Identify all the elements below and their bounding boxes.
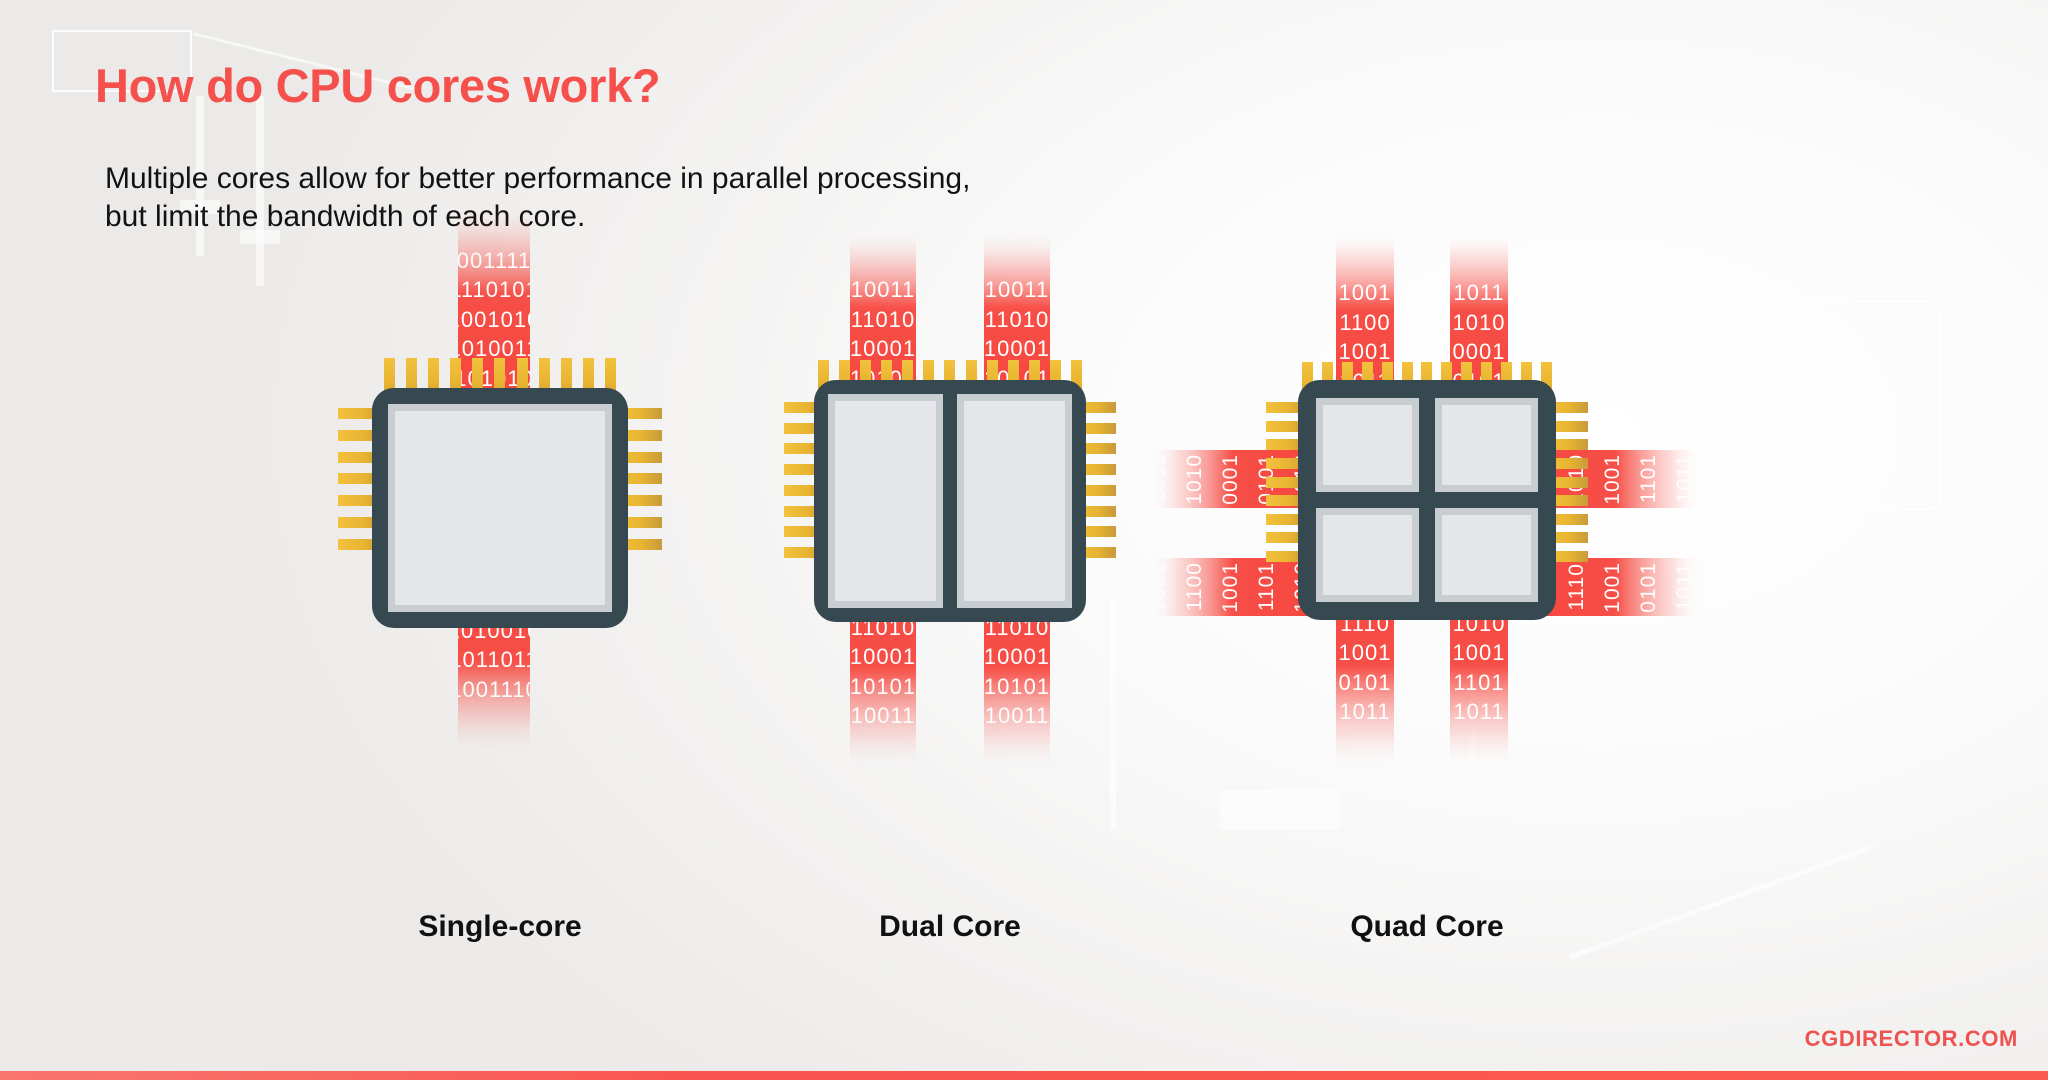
caption-single-core: Single-core bbox=[340, 910, 660, 944]
cpu-chip-dual-core[interactable] bbox=[814, 380, 1086, 622]
stream-bit-row: 1011011 bbox=[449, 645, 538, 674]
stream-bit-row: 1011 bbox=[1147, 454, 1171, 503]
cpu-core-1 bbox=[835, 401, 936, 601]
stream-bit-row: 0001 bbox=[1219, 454, 1243, 505]
stream-bit-row: 1110101 bbox=[449, 275, 538, 304]
stream-bit-row: 1001010 bbox=[448, 305, 541, 334]
data-stream-quad-left-2: 1001 1100 1001 1101 1010 bbox=[1150, 558, 1318, 616]
cpu-chip-single-core[interactable] bbox=[372, 388, 628, 628]
stream-bit-row: 0101 bbox=[1637, 562, 1661, 613]
stream-bit-row: 1101 bbox=[1453, 668, 1504, 697]
stream-bit-row: 1011 bbox=[1673, 562, 1697, 611]
cpu-core-grid bbox=[1316, 398, 1538, 602]
stream-bit-row: 10011110 bbox=[444, 246, 545, 275]
stream-bit-row: 11010 bbox=[851, 305, 916, 334]
cpu-die-outer bbox=[1435, 398, 1538, 492]
stream-bit-row: 1011 bbox=[1453, 278, 1504, 307]
stream-bit-row: 1100 bbox=[1183, 562, 1207, 611]
cpu-die-outer bbox=[828, 394, 943, 608]
stream-bit-row: 1001 bbox=[1339, 638, 1392, 667]
stream-bit-row: 10101 bbox=[984, 672, 1050, 701]
stream-bit-row: 1110 bbox=[1565, 563, 1589, 611]
stream-bit-row: 11010 bbox=[985, 305, 1050, 334]
cpu-core-2 bbox=[1442, 405, 1531, 485]
cpu-core-4 bbox=[1442, 515, 1531, 595]
cpu-core-1 bbox=[395, 411, 605, 605]
cpu-core-1 bbox=[1323, 405, 1412, 485]
page-title: How do CPU cores work? bbox=[95, 58, 660, 113]
stream-bit-row: 1001 bbox=[1147, 562, 1171, 613]
stream-bit-row: 1010 bbox=[1453, 308, 1506, 337]
stream-bit-row: 10011 bbox=[851, 701, 916, 730]
stream-bit-row: 1011 bbox=[1673, 454, 1697, 503]
stream-bit-row: 1011 bbox=[1453, 697, 1504, 726]
stream-bit-row: 10101 bbox=[850, 672, 916, 701]
cpu-core-3 bbox=[1323, 515, 1412, 595]
stream-bit-row: 1001 bbox=[1601, 562, 1625, 613]
stream-bit-row: 0101 bbox=[1339, 668, 1392, 697]
stream-bit-row: 1001 bbox=[1219, 562, 1243, 613]
stream-bit-row: 1101 bbox=[1255, 562, 1279, 611]
stream-bit-row: 1001 bbox=[1339, 278, 1392, 307]
cpu-die-outer bbox=[1435, 508, 1538, 602]
stream-bit-row: 1101 bbox=[1637, 454, 1661, 503]
stream-bit-row: 10011 bbox=[985, 701, 1050, 730]
caption-dual-core: Dual Core bbox=[790, 910, 1110, 944]
stream-bit-row: 10011 bbox=[985, 275, 1050, 304]
caption-quad-core: Quad Core bbox=[1262, 910, 1592, 944]
stream-bit-row: 1011 bbox=[1339, 697, 1390, 726]
cpu-die-outer bbox=[1316, 398, 1419, 492]
cpu-die-outer bbox=[388, 404, 612, 612]
stream-bit-row: 1001 bbox=[1601, 454, 1625, 505]
stream-bit-row: 10011 bbox=[851, 275, 916, 304]
bottom-accent-rule bbox=[0, 1071, 2048, 1080]
stream-bit-row: 10001 bbox=[984, 642, 1050, 671]
stream-bit-row: 1001110 bbox=[449, 675, 538, 704]
stream-bit-row: 1010 bbox=[1183, 454, 1207, 505]
stream-bit-row: 10001 bbox=[850, 642, 916, 671]
stream-bit-row: 1100 bbox=[1339, 308, 1390, 337]
cpu-diagram-stage: 10011110 1110101 1001010 1010011 101010 … bbox=[0, 280, 2048, 920]
cpu-die-outer bbox=[957, 394, 1072, 608]
cpu-chip-quad-core[interactable] bbox=[1298, 380, 1556, 620]
stream-bit-row: 1001 bbox=[1453, 638, 1506, 667]
footer-brand: CGDIRECTOR.COM bbox=[1805, 1026, 2018, 1052]
page-subtitle: Multiple cores allow for better performa… bbox=[105, 160, 970, 237]
cpu-core-2 bbox=[964, 401, 1065, 601]
cpu-die-outer bbox=[1316, 508, 1419, 602]
